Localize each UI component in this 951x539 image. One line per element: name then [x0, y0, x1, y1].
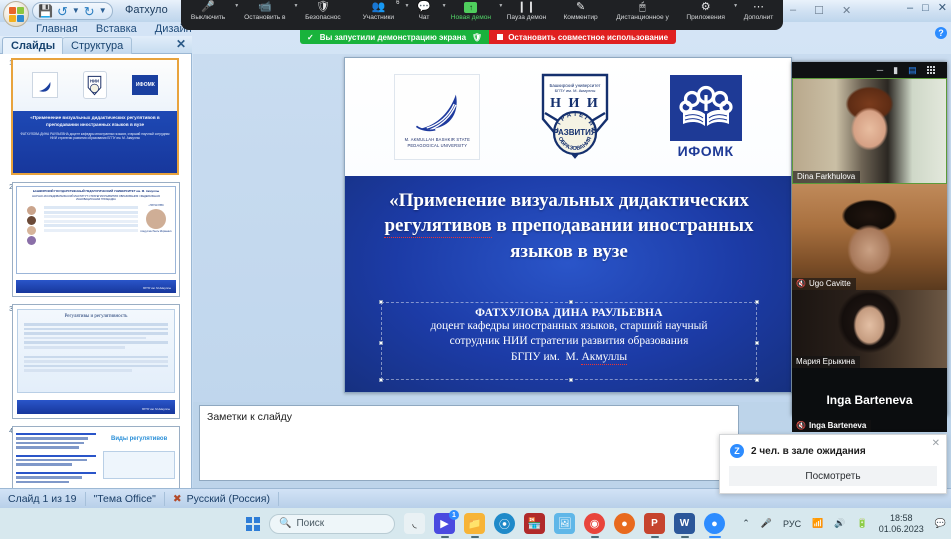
system-tray: ⌃ 🎤 РУС 📶 🔊 🔋 18:58 01.06.2023 💬	[742, 508, 946, 539]
resize-handle[interactable]	[755, 300, 759, 304]
more-icon: ⋯	[753, 1, 764, 14]
customize-qat-icon[interactable]: ▼	[99, 7, 107, 15]
ifomk-logo-mini-icon: ИФОМК	[132, 75, 158, 95]
windows-start-icon[interactable]	[246, 517, 260, 531]
ifomk-logo-caption: ИФОМК	[678, 143, 734, 159]
zoom-remote-control-button[interactable]: 🖱 Дистанционное у	[608, 0, 678, 30]
participant-name-label: Dina Farkhulova	[797, 172, 855, 181]
share-shield-icon: 🛡	[472, 33, 482, 42]
video-tile-inga-barteneva[interactable]: Inga Barteneva 🔇 Inga Barteneva	[792, 368, 947, 432]
word-icon[interactable]: W	[674, 513, 695, 534]
zoom-annotate-button[interactable]: ✎ Комментир	[553, 0, 607, 30]
office-logo-icon	[9, 7, 24, 22]
zoom-share-label: Новая демон	[451, 14, 491, 22]
notification-icon[interactable]: 💬	[935, 518, 946, 529]
clock-time: 18:58	[879, 513, 924, 524]
bashkir-state-pedagogical-university-logo: M. AKMULLAH BASHKIR STATE PEDAGOGICAL UN…	[394, 74, 480, 160]
zoom-pause-share-button[interactable]: ❙❙ Пауза демон	[499, 0, 553, 30]
ribbon-tab-home[interactable]: Главная	[36, 23, 78, 35]
speaker-view-icon[interactable]: ▤	[908, 65, 917, 76]
microphone-icon[interactable]: 🎤	[761, 518, 772, 529]
search-placeholder: Поиск	[296, 518, 324, 529]
share-screen-icon: ↑	[464, 1, 477, 14]
shield-icon: 🛡	[316, 1, 330, 14]
video-tile-maria-erykina[interactable]: Мария Ерыкина	[792, 290, 947, 368]
zoom-security-label: Безопаснос	[305, 14, 341, 22]
help-icon[interactable]: ?	[935, 27, 947, 39]
waiting-room-message-row: Z 2 чел. в зале ожидания	[720, 435, 946, 464]
zoom-chat-button[interactable]: 💬 Чат ▼	[405, 0, 442, 30]
slide-title-line-2: регулятивов в преподавании иностранных	[355, 213, 783, 238]
ifomk-mark-icon	[670, 75, 742, 141]
status-language[interactable]: ✖ Русский (Россия)	[165, 492, 279, 506]
firefox-icon[interactable]: ●	[614, 513, 635, 534]
thumbnail-4-title: Виды регулятивов	[103, 435, 175, 443]
nii-logo-mini-icon: НИИ	[83, 71, 107, 99]
powerpoint-window-controls: – □ ✕	[907, 1, 947, 14]
thumbnail-1-subtitle: ФАТХУЛОВА ДИНА РАУЛЬЕВНА доцент кафедры …	[19, 132, 171, 142]
slide-thumbnail-4[interactable]: Виды регулятивов	[12, 426, 180, 488]
zoom-participants-button[interactable]: 👥 Участники 6 ▼	[351, 0, 405, 30]
resize-handle[interactable]	[379, 378, 383, 382]
zoom-apps-button[interactable]: ⚙ Приложения ▼	[677, 0, 734, 30]
zoom-close-button[interactable]: ✕	[842, 4, 851, 17]
share-status: ✓ Вы запустили демонстрацию экрана 🛡	[300, 30, 489, 44]
restore-button[interactable]: □	[922, 2, 929, 14]
volume-icon[interactable]: 🔊	[834, 518, 845, 529]
zoom-security-button[interactable]: 🛡 Безопаснос	[295, 0, 352, 30]
remote-control-icon: 🖱	[639, 1, 646, 14]
task-view-icon[interactable]: ◟	[404, 513, 425, 534]
slide-body: «Применение визуальных дидактических рег…	[345, 176, 791, 393]
ribbon-tabs: Главная Вставка Дизайн	[36, 23, 192, 35]
status-theme[interactable]: "Тема Office"	[86, 492, 165, 506]
video-tile-ugo-cavitte[interactable]: 🔇 Ugo Cavitte	[792, 184, 947, 290]
apps-icon: ⚙	[701, 1, 711, 14]
slide-subtitle-placeholder[interactable]: ФАТХУЛОВА ДИНА РАУЛЬЕВНА доцент кафедры …	[381, 302, 757, 380]
participant-name-label: Мария Ерыкина	[796, 357, 855, 366]
zoom-mute-button[interactable]: 🎤 Выключить ▼	[181, 0, 235, 30]
save-icon[interactable]: 💾	[38, 5, 53, 17]
zoom-remote-label: Дистанционное у	[616, 14, 669, 22]
misspelled-word: регулятивов	[384, 215, 491, 238]
slide-affiliation-line-3: БГПУ им. М. Акмуллы	[382, 350, 756, 365]
waiting-room-message: 2 чел. в зале ожидания	[751, 446, 866, 457]
participant-placeholder-name: Inga Barteneva	[826, 393, 912, 407]
participant-name-label: Inga Barteneva	[809, 421, 866, 430]
zoom-more-button[interactable]: ⋯ Дополнит	[734, 0, 783, 30]
slide-author: ФАТХУЛОВА ДИНА РАУЛЬЕВНА	[382, 307, 756, 319]
redo-icon[interactable]: ↻	[84, 5, 95, 18]
photos-icon[interactable]: 🖼	[554, 513, 575, 534]
zoom-participants-label: Участники	[363, 14, 395, 22]
slide-affiliation-line-2: сотрудник НИИ стратегии развития образов…	[382, 334, 756, 349]
window-title: Фатхуло	[125, 4, 168, 16]
spellcheck-icon: ✖	[173, 493, 182, 505]
zoom-apps-label: Приложения	[686, 14, 725, 22]
screen-share-banner: ✓ Вы запустили демонстрацию экрана 🛡 Ост…	[300, 30, 676, 44]
screen: 💾 ↺ ▼ ↻ ▼ Фатхуло – □ ✕ Главная Вставка …	[0, 0, 951, 539]
mic-muted-icon: 🔇	[796, 421, 806, 430]
slide-affiliation-line-1: доцент кафедры иностранных языков, старш…	[382, 319, 756, 334]
battery-icon[interactable]: 🔋	[857, 518, 868, 529]
zoom-active-icon[interactable]: ●	[704, 513, 725, 534]
resize-handle[interactable]	[755, 378, 759, 382]
svg-text:БГПУ им. М. Акмуллы: БГПУ им. М. Акмуллы	[555, 88, 596, 93]
share-status-label: Вы запустили демонстрацию экрана	[320, 33, 466, 42]
participant-name: Dina Farkhulova	[793, 171, 860, 183]
svg-text:Н И И: Н И И	[550, 96, 600, 111]
zoom-notification-badge: 1	[449, 510, 459, 520]
quick-access-toolbar[interactable]: 💾 ↺ ▼ ↻ ▼	[32, 2, 113, 20]
participant-name: 🔇 Inga Barteneva	[792, 420, 871, 432]
gallery-view-icon[interactable]	[927, 66, 935, 74]
zoom-share-screen-button[interactable]: ↑ Новая демон ▼	[443, 0, 500, 30]
zoom-pause-label: Пауза демон	[507, 14, 547, 22]
thumbnail-3-title: Регулятивы и регулятивность	[24, 314, 168, 319]
resize-handle[interactable]	[569, 300, 573, 304]
search-icon: 🔍	[279, 518, 291, 529]
status-language-label: Русский (Россия)	[187, 493, 270, 505]
view-waiting-room-button[interactable]: Посмотреть	[729, 466, 937, 486]
zoom-minimize-button[interactable]: –	[790, 4, 796, 17]
current-slide[interactable]: M. AKMULLAH BASHKIR STATE PEDAGOGICAL UN…	[344, 57, 792, 393]
slide-thumbnail-3[interactable]: Регулятивы и регулятивность	[12, 304, 180, 419]
participant-name-label: Ugo Cavitte	[809, 279, 851, 288]
minimize-icon[interactable]: ─	[877, 65, 883, 75]
pause-icon: ❙❙	[517, 1, 535, 14]
bgpu-bird-icon	[411, 86, 463, 134]
taskbar-search[interactable]: 🔍 Поиск	[269, 514, 395, 534]
slide-logo-row: M. AKMULLAH BASHKIR STATE PEDAGOGICAL UN…	[345, 58, 791, 176]
tab-outline[interactable]: Структура	[62, 37, 132, 54]
participants-count: 6	[396, 0, 399, 6]
taskbar-center: 🔍 Поиск ◟ ▶ 1 📁 ⦿ 🏪 🖼 ◉ ● P W ●	[246, 508, 725, 539]
slide-title[interactable]: «Применение визуальных дидактических рег…	[355, 188, 783, 264]
participants-icon: 👥	[371, 1, 385, 14]
slides-outline-tabs: Слайды Структура ✕	[0, 36, 192, 54]
slide-title-line-3: языков в вузе	[355, 239, 783, 264]
office-button[interactable]	[3, 1, 29, 27]
zoom-meeting-toolbar[interactable]: 🎤 Выключить ▼ 📹 Остановить в ▼ 🛡 Безопас…	[181, 0, 783, 30]
thumbnail-2-footer: БГПУ им. М.Акмуллы	[16, 280, 176, 293]
microsoft-edge-icon[interactable]: ⦿	[494, 513, 515, 534]
microsoft-store-icon[interactable]: 🏪	[524, 513, 545, 534]
video-panel-controls: ─ ▮ ▤	[792, 62, 947, 78]
chat-icon: 💬	[417, 1, 431, 14]
zoom-stop-video-label: Остановить в	[244, 14, 285, 22]
tab-slides[interactable]: Слайды	[2, 37, 64, 54]
thumbnail-2-subtitle: НАУЧНО-ИССЛЕДОВАТЕЛЬСКИЙ ИНСТИТУТ СТРАТЕ…	[20, 195, 172, 202]
microphone-icon: 🎤	[201, 1, 215, 14]
slide-thumbnail-2[interactable]: БАШКИРСКИЙ ГОСУДАРСТВЕННЫЙ ПЕДАГОГИЧЕСКИ…	[12, 182, 180, 297]
participant-name: 🔇 Ugo Cavitte	[792, 278, 856, 290]
thumbnail-2-title: БАШКИРСКИЙ ГОСУДАРСТВЕННЫЙ ПЕДАГОГИЧЕСКИ…	[20, 190, 172, 194]
zoom-icon: Z	[730, 444, 744, 458]
pencil-icon: ✎	[576, 1, 585, 14]
zoom-window-controls: – ☐ ✕	[790, 4, 851, 17]
zoom-chat-label: Чат	[419, 14, 430, 22]
maximize-icon[interactable]: ▮	[893, 65, 898, 76]
ifomk-logo: ИФОМК	[670, 75, 742, 159]
camera-icon: 📹	[258, 1, 272, 14]
file-explorer-icon[interactable]: 📁	[464, 513, 485, 534]
resize-handle[interactable]	[379, 300, 383, 304]
undo-dropdown-icon[interactable]: ▼	[72, 7, 80, 15]
resize-handle[interactable]	[379, 341, 383, 345]
waiting-room-notification[interactable]: ✕ Z 2 чел. в зале ожидания Посмотреть	[719, 434, 947, 494]
close-pane-button[interactable]: ✕	[176, 37, 186, 51]
slide-title-line-1: «Применение визуальных дидактических	[355, 188, 783, 213]
video-tile-dina-farkhulova[interactable]: Dina Farkhulova	[792, 78, 947, 184]
stop-share-button[interactable]: Остановить совместное использование	[489, 30, 676, 44]
clock[interactable]: 18:58 01.06.2023	[879, 513, 924, 535]
bgpu-logo-caption: M. AKMULLAH BASHKIR STATE PEDAGOGICAL UN…	[395, 137, 479, 149]
thumbnail-1-title: «Применение визуальных дидактических рег…	[19, 115, 171, 129]
stop-share-label: Остановить совместное использование	[508, 33, 668, 42]
wifi-icon[interactable]: 📶	[812, 518, 823, 529]
close-icon[interactable]: ✕	[932, 438, 940, 449]
misspelled-word: Акмуллы	[581, 351, 627, 365]
mic-muted-icon: 🔇	[796, 279, 806, 288]
language-indicator[interactable]: РУС	[783, 519, 801, 529]
svg-text:НИИ: НИИ	[90, 79, 99, 84]
resize-handle[interactable]	[569, 378, 573, 382]
thumbnail-1-text: «Применение визуальных дидактических рег…	[13, 111, 177, 173]
ribbon-tab-insert[interactable]: Вставка	[96, 23, 137, 35]
zoom-taskbar-icon[interactable]: ▶ 1	[434, 513, 455, 534]
participant-name: Мария Ерыкина	[792, 356, 860, 368]
zoom-annotate-label: Комментир	[563, 14, 597, 22]
thumbnail-1-logos: НИИ ИФОМК	[13, 60, 177, 111]
nii-strategy-development-education-logo: Башкирский университет БГПУ им. М. Акмул…	[535, 71, 615, 163]
resize-handle[interactable]	[755, 341, 759, 345]
bgpu-logo-mini-icon	[32, 72, 58, 98]
minimize-button[interactable]: –	[907, 2, 913, 14]
share-active-icon: ✓	[307, 33, 314, 42]
windows-taskbar[interactable]: 🔍 Поиск ◟ ▶ 1 📁 ⦿ 🏪 🖼 ◉ ● P W ● ⌃ 🎤 РУС …	[0, 508, 951, 539]
thumbnail-3-footer: БГПУ им. М.Акмуллы	[17, 400, 175, 414]
clock-date: 01.06.2023	[879, 524, 924, 535]
google-chrome-icon[interactable]: ◉	[584, 513, 605, 534]
stop-icon	[497, 34, 503, 40]
close-button[interactable]: ✕	[938, 1, 947, 14]
tray-overflow-icon[interactable]: ⌃	[742, 518, 750, 529]
zoom-stop-video-button[interactable]: 📹 Остановить в ▼	[235, 0, 294, 30]
slide-thumbnail-1[interactable]: НИИ ИФОМК «Применение визуальных дидакти…	[11, 58, 179, 175]
zoom-mute-label: Выключить	[191, 14, 225, 22]
powerpoint-icon[interactable]: P	[644, 513, 665, 534]
slide-thumbnails-pane[interactable]: 1 НИИ ИФОМК «Применение визуальных дидак…	[0, 54, 192, 488]
zoom-video-panel[interactable]: ─ ▮ ▤ Dina Farkhulova 🔇 Ugo Cavitte Мари…	[792, 62, 947, 416]
zoom-restore-button[interactable]: ☐	[814, 4, 824, 17]
undo-icon[interactable]: ↺	[57, 5, 68, 18]
notes-input[interactable]: Заметки к слайду	[199, 405, 739, 481]
status-slide-counter: Слайд 1 из 19	[0, 492, 86, 506]
zoom-more-label: Дополнит	[744, 14, 774, 22]
